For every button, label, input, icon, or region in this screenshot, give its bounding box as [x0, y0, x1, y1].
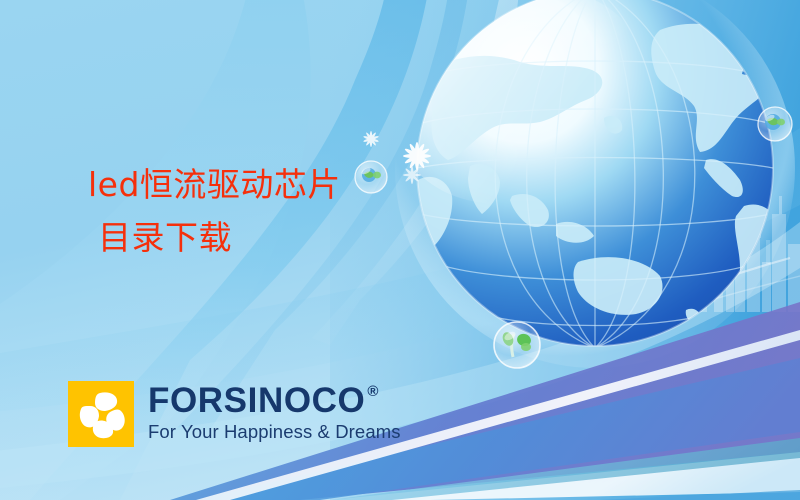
wordmark-text: FORSINOCO [148, 383, 365, 418]
headline-line-1: led恒流驱动芯片 [88, 166, 341, 205]
logo-tagline: For Your Happiness & Dreams [148, 421, 401, 443]
wordmark: FORSINOCO ® [148, 383, 401, 418]
four-petal-pinwheel-icon [68, 381, 134, 447]
headline: led恒流驱动芯片 目录下载 [88, 166, 341, 258]
bubble-globe-left [355, 161, 387, 193]
flower-sparkle-3 [403, 166, 421, 184]
flower-sparkle-1 [403, 142, 431, 170]
bubble-globe-right [758, 107, 792, 141]
bubble-sprout [494, 322, 540, 368]
headline-line-2: 目录下载 [88, 219, 341, 258]
logo-text-block: FORSINOCO ® For Your Happiness & Dreams [148, 381, 401, 443]
registered-trademark-symbol: ® [367, 384, 379, 399]
flower-sparkle-2 [363, 131, 379, 147]
promo-banner: led恒流驱动芯片 目录下载 FORSINOCO ® [0, 0, 800, 500]
brand-logo: FORSINOCO ® For Your Happiness & Dreams [68, 381, 401, 447]
